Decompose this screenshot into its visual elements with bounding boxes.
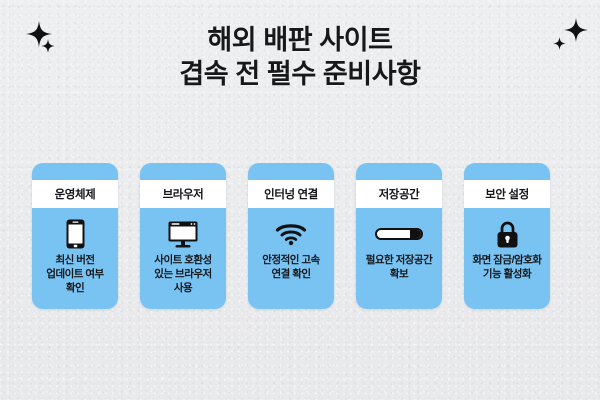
card-storage[interactable]: 저장공간 펄요한 저장공간 확보 — [356, 163, 442, 309]
smartphone-icon — [66, 217, 85, 251]
card-storage-header: 저장공간 — [356, 180, 442, 208]
infographic-canvas: 해외 배판 사이트 겹속 전 펄수 준비사항 운영체제 최신 버전 업데이트 여… — [0, 0, 600, 400]
wifi-icon — [275, 217, 307, 251]
card-browser-header: 브라우저 — [140, 180, 226, 208]
card-security-header-label: 보안 설정 — [485, 186, 529, 202]
card-storage-header-label: 저장공간 — [379, 186, 420, 202]
checklist-card-row: 운영체제 최신 버전 업데이트 여부 확인 브라우저 — [32, 163, 550, 309]
page-title-line-2: 겹속 전 펄수 준비사항 — [0, 57, 600, 91]
card-os-body: 최신 버전 업데이트 여부 확인 — [32, 254, 118, 296]
card-os[interactable]: 운영체제 최신 버전 업데이트 여부 확인 — [32, 163, 118, 309]
page-title-line-1: 해외 배판 사이트 — [0, 23, 600, 57]
card-internet-header-label: 인터넝 연결 — [264, 186, 318, 202]
card-security[interactable]: 보안 설정 화면 잠금/암호화 기능 활성화 — [464, 163, 550, 309]
monitor-browser-icon — [168, 217, 198, 251]
card-storage-body: 펄요한 저장공간 확보 — [356, 254, 442, 282]
card-internet-header: 인터넝 연결 — [248, 180, 334, 208]
card-browser-body: 사이트 호환성 있는 브라우저 사용 — [140, 254, 226, 296]
page-title: 해외 배판 사이트 겹속 전 펄수 준비사항 — [0, 23, 600, 91]
card-internet[interactable]: 인터넝 연결 안정적인 고속 연결 확인 — [248, 163, 334, 309]
storage-bar-icon — [375, 217, 423, 251]
card-internet-body: 안정적인 고속 연결 확인 — [248, 254, 334, 282]
card-os-header-label: 운영체제 — [55, 186, 96, 202]
lock-icon — [496, 217, 519, 251]
card-os-header: 운영체제 — [32, 180, 118, 208]
card-security-header: 보안 설정 — [464, 180, 550, 208]
card-security-body: 화면 잠금/암호화 기능 활성화 — [464, 254, 550, 282]
card-browser-header-label: 브라우저 — [163, 186, 204, 202]
card-browser[interactable]: 브라우저 사이트 호환성 있는 브라우저 사용 — [140, 163, 226, 309]
